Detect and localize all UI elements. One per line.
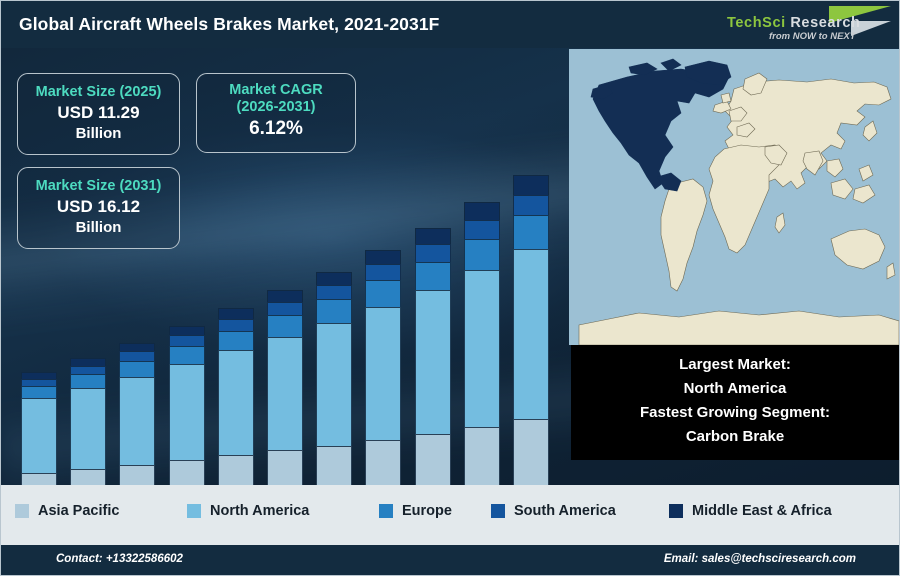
bar-2025 [218, 304, 254, 506]
world-map [569, 49, 900, 345]
stat-box-market-size-2025: Market Size (2025) USD 11.29 Billion [17, 73, 180, 155]
bar-segment-south-america [513, 195, 549, 217]
header-bar: Global Aircraft Wheels Brakes Market, 20… [1, 1, 900, 48]
stat-value: USD 16.12 [18, 195, 179, 218]
callout-line-4: Carbon Brake [571, 425, 899, 449]
bar-segment-north-america [218, 350, 254, 456]
bar-segment-middle-east-africa [415, 228, 451, 245]
bar-segment-north-america [70, 388, 106, 470]
footer-email: Email: sales@techsciresearch.com [664, 553, 856, 565]
bar-segment-europe [464, 239, 500, 271]
legend-label: Middle East & Africa [692, 503, 832, 519]
bar-segment-europe [119, 361, 155, 378]
bar-segment-north-america [365, 307, 401, 441]
legend-item-europe[interactable]: Europe [379, 503, 452, 519]
legend-swatch-icon [187, 504, 201, 518]
footer-contact: Contact: +13322586602 [56, 553, 183, 565]
callout-box: Largest Market: North America Fastest Gr… [571, 345, 899, 460]
callout-line-1: Largest Market: [571, 353, 899, 377]
bar-segment-middle-east-africa [316, 272, 352, 286]
bar-2027F [316, 268, 352, 506]
bar-segment-south-america [365, 264, 401, 281]
bar-segment-middle-east-africa [513, 175, 549, 195]
legend-swatch-icon [491, 504, 505, 518]
bar-2028F [365, 246, 401, 506]
bar-segment-europe [169, 346, 205, 365]
bar-segment-middle-east-africa [365, 250, 401, 265]
legend-item-middle-east-africa[interactable]: Middle East & Africa [669, 503, 832, 519]
stat-box-market-size-2031: Market Size (2031) USD 16.12 Billion [17, 167, 180, 249]
bar-segment-north-america [21, 398, 57, 474]
stat-label: Market Size (2025) [18, 83, 179, 101]
bar-2026E [267, 286, 303, 506]
bar-segment-north-america [316, 323, 352, 447]
logo-wordmark: TechSci Research [727, 15, 860, 31]
legend-item-asia-pacific[interactable]: Asia Pacific [15, 503, 119, 519]
infographic-root: Global Aircraft Wheels Brakes Market, 20… [0, 0, 900, 576]
techsci-research-logo: TechSci Research from NOW to NEXT [721, 4, 893, 46]
stat-label: Market Size (2031) [18, 177, 179, 195]
legend-label: North America [210, 503, 309, 519]
legend-label: Europe [402, 503, 452, 519]
stat-sublabel: (2026-2031) [197, 99, 355, 116]
bar-segment-north-america [464, 270, 500, 428]
footer-bar: Contact: +13322586602 Email: sales@techs… [1, 545, 900, 576]
legend-item-south-america[interactable]: South America [491, 503, 616, 519]
bar-segment-europe [267, 315, 303, 338]
bar-segment-europe [70, 374, 106, 389]
legend-swatch-icon [379, 504, 393, 518]
bar-segment-europe [218, 331, 254, 352]
page-title: Global Aircraft Wheels Brakes Market, 20… [19, 14, 439, 35]
world-map-svg [569, 49, 900, 345]
legend-label: Asia Pacific [38, 503, 119, 519]
stat-label: Market CAGR [197, 81, 355, 99]
stat-value: 6.12% [197, 116, 355, 142]
bar-2030F [464, 198, 500, 506]
bar-segment-south-america [464, 220, 500, 240]
logo-word-research: Research [786, 15, 861, 31]
callout-line-3: Fastest Growing Segment: [571, 401, 899, 425]
bar-segment-europe [513, 215, 549, 250]
bar-2023 [119, 339, 155, 506]
legend-swatch-icon [669, 504, 683, 518]
bar-2024 [169, 322, 205, 506]
bar-2022 [70, 354, 106, 506]
chart-legend: Asia PacificNorth AmericaEuropeSouth Ame… [1, 485, 900, 545]
legend-swatch-icon [15, 504, 29, 518]
bar-segment-europe [365, 280, 401, 307]
bar-segment-north-america [415, 290, 451, 435]
legend-label: South America [514, 503, 616, 519]
stat-box-market-cagr: Market CAGR (2026-2031) 6.12% [196, 73, 356, 153]
bar-segment-middle-east-africa [464, 202, 500, 221]
logo-word-techsci: TechSci [727, 15, 786, 31]
bar-2031F [513, 171, 549, 506]
bar-segment-europe [415, 262, 451, 291]
legend-item-north-america[interactable]: North America [187, 503, 309, 519]
callout-line-2: North America [571, 377, 899, 401]
bar-segment-europe [316, 299, 352, 324]
bar-2029F [415, 224, 451, 506]
bar-segment-north-america [267, 337, 303, 451]
stat-unit: Billion [18, 218, 179, 238]
bar-segment-south-america [316, 285, 352, 300]
bar-segment-north-america [513, 249, 549, 420]
stat-unit: Billion [18, 124, 179, 144]
bar-segment-north-america [169, 364, 205, 461]
bar-segment-south-america [415, 244, 451, 263]
stat-value: USD 11.29 [18, 101, 179, 124]
logo-tagline: from NOW to NEXT [769, 31, 856, 42]
bar-segment-north-america [119, 377, 155, 467]
bar-segment-south-america [267, 302, 303, 316]
